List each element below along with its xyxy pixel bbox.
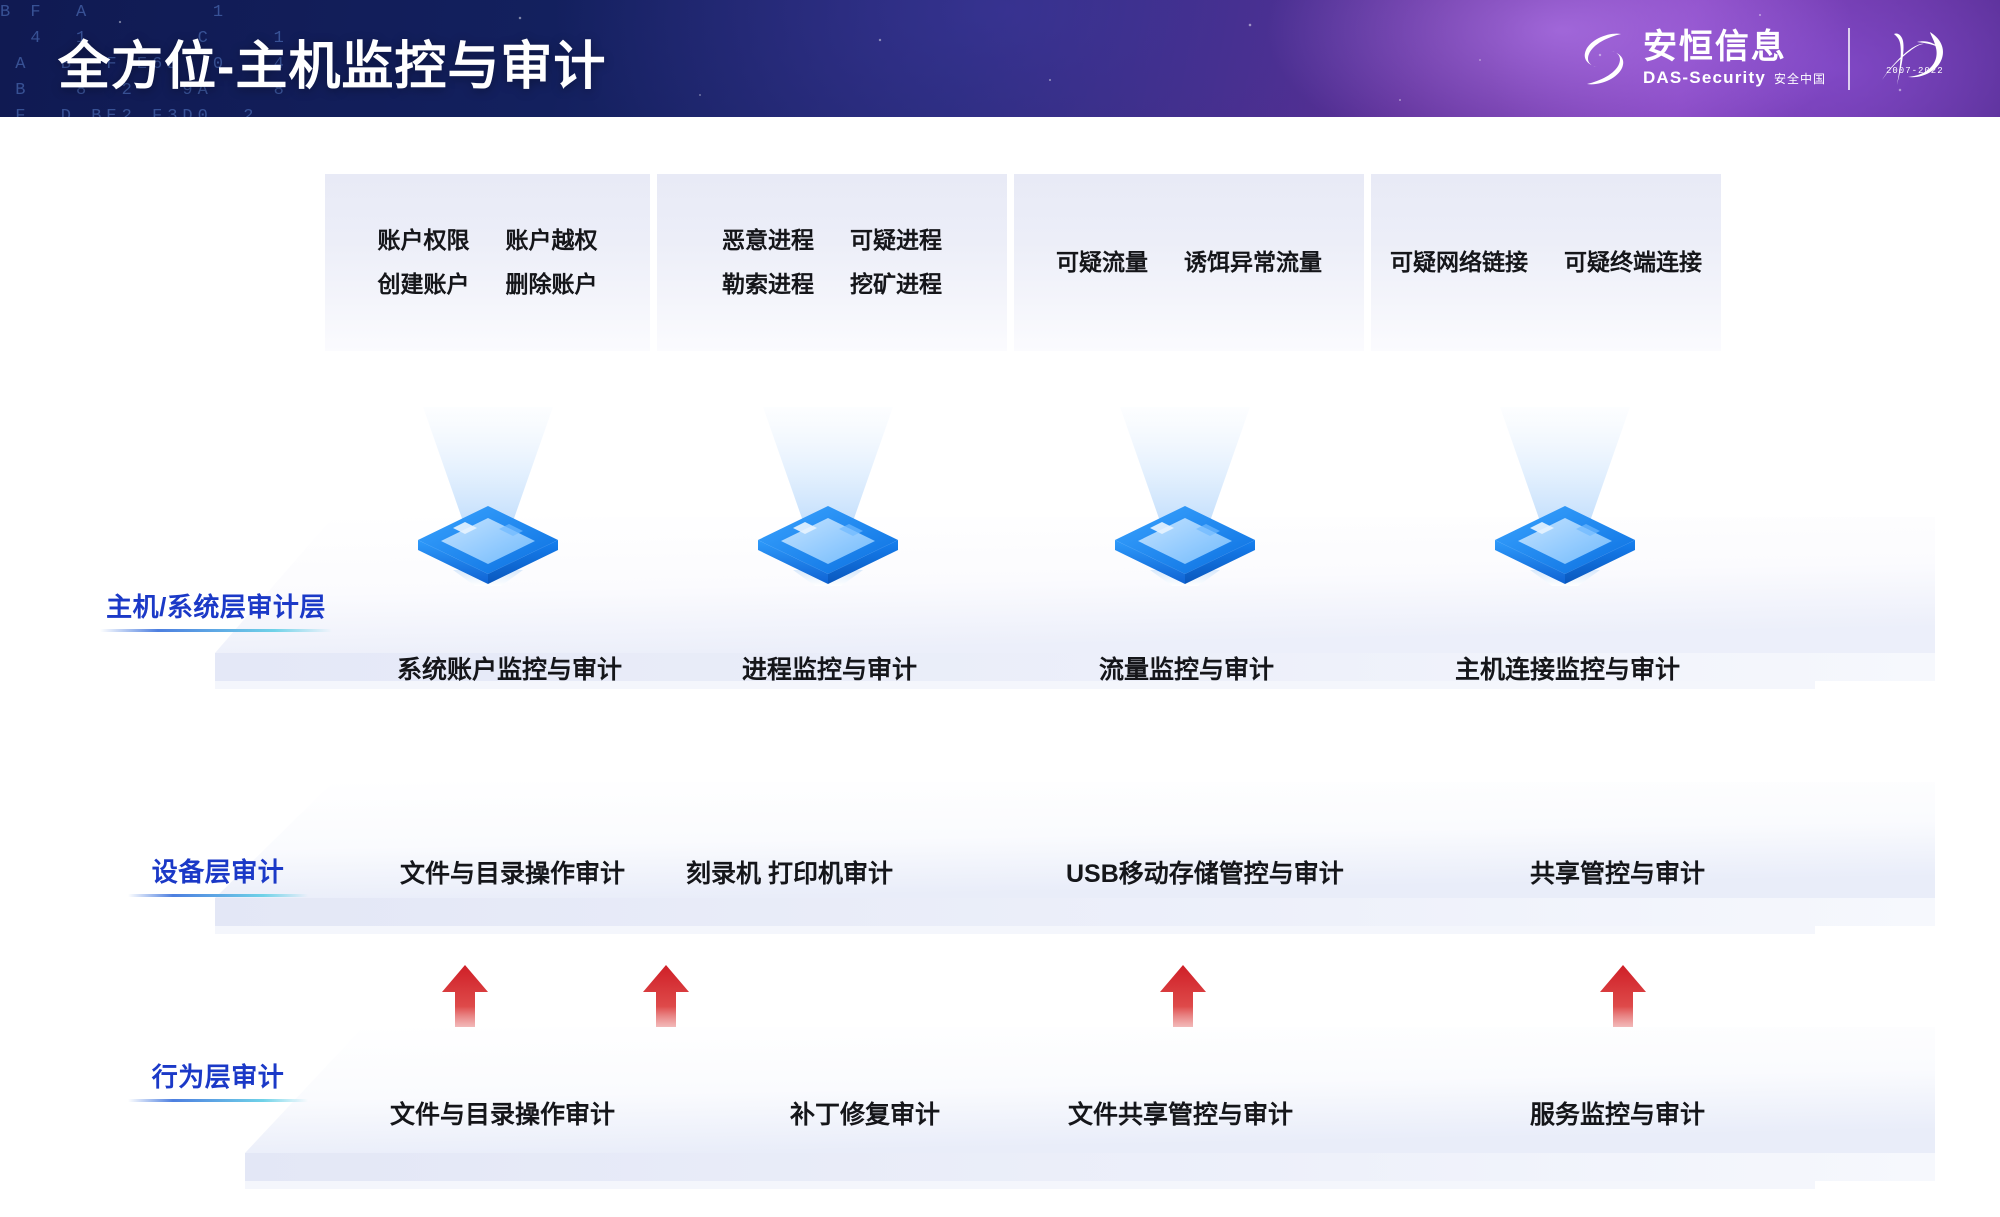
layer-3-item-2: 文件共享管控与审计: [1068, 1095, 1293, 1131]
feature-tag: 可疑网络链接: [1390, 241, 1528, 285]
swoosh-logo-icon: [1575, 30, 1631, 88]
layer-2-item-3: 共享管控与审计: [1530, 854, 1705, 890]
brand-logo: 安恒信息 DAS-Security 安全中国 2007-2022: [1575, 22, 1958, 96]
feature-card-account: 账户权限账户越权 创建账户删除账户: [325, 174, 650, 351]
layer-1-item-2: 流量监控与审计: [1099, 650, 1274, 686]
layer-2-item-1: 刻录机 打印机审计: [686, 854, 893, 890]
layer-3-item-3: 服务监控与审计: [1530, 1095, 1705, 1131]
brand-name-en: DAS-Security: [1643, 68, 1766, 88]
layer-1-tag-label: 主机/系统层审计层: [100, 587, 332, 624]
node-process: [718, 407, 938, 597]
node-connection: [1455, 407, 1675, 597]
layer-1-item-1: 进程监控与审计: [742, 650, 917, 686]
server-block-icon: [1490, 500, 1640, 591]
node-traffic: [1075, 407, 1295, 597]
feature-card-row: 账户权限账户越权 创建账户删除账户 恶意进程可疑进程 勒索进程挖矿进程 可疑流量…: [0, 117, 2000, 347]
layer-1-tag: 主机/系统层审计层: [100, 587, 332, 632]
feature-tag: 诱饵异常流量: [1184, 241, 1322, 285]
feature-tag: 可疑终端连接: [1564, 241, 1702, 285]
feature-tag: 可疑流量: [1056, 241, 1148, 285]
feature-tag: 勒索进程: [722, 263, 814, 307]
layer-3-tag: 行为层审计: [128, 1057, 308, 1102]
layer-1-tag-underline: [100, 629, 332, 632]
brand-slogan: 安全中国: [1774, 70, 1826, 87]
feature-tag: 删除账户: [506, 263, 598, 307]
feature-tag: 创建账户: [378, 263, 470, 307]
layer-3-item-1: 补丁修复审计: [790, 1095, 940, 1131]
anniversary-years: 2007-2022: [1886, 66, 1944, 76]
feature-tag: 账户权限: [378, 219, 470, 263]
das-security-logo: 安恒信息 DAS-Security 安全中国: [1575, 30, 1826, 89]
layer-2-tag: 设备层审计: [128, 852, 308, 897]
server-block-icon: [1110, 500, 1260, 591]
feature-tag: 可疑进程: [850, 219, 942, 263]
anniversary-15-icon: 2007-2022: [1872, 24, 1958, 94]
layer-2-tag-label: 设备层审计: [128, 852, 308, 889]
node-account: [378, 407, 598, 597]
feature-card-traffic: 可疑流量诱饵异常流量: [1014, 174, 1364, 351]
feature-tag: 挖矿进程: [850, 263, 942, 307]
feature-tag: 恶意进程: [722, 219, 814, 263]
logo-text: 安恒信息 DAS-Security 安全中国: [1643, 30, 1826, 89]
layer-3-tag-underline: [128, 1099, 308, 1102]
layer-2-item-2: USB移动存储管控与审计: [1066, 854, 1344, 890]
feature-card-process: 恶意进程可疑进程 勒索进程挖矿进程: [657, 174, 1007, 351]
brand-name-cn: 安恒信息: [1643, 30, 1826, 66]
server-block-icon: [413, 500, 563, 591]
server-block-icon: [753, 500, 903, 591]
diagram-canvas: 账户权限账户越权 创建账户删除账户 恶意进程可疑进程 勒索进程挖矿进程 可疑流量…: [0, 117, 2000, 1125]
logo-divider: [1848, 28, 1850, 90]
page-header: B F A 1 4 1 C 1 A B F E6E 0 4 B 8 2 9A 8…: [0, 0, 2000, 117]
layer-2-tag-underline: [128, 894, 308, 897]
feature-card-connection: 可疑网络链接可疑终端连接: [1371, 174, 1721, 351]
layer-3-tag-label: 行为层审计: [128, 1057, 308, 1094]
layer-2-item-0: 文件与目录操作审计: [400, 854, 625, 890]
feature-tag: 账户越权: [506, 219, 598, 263]
layer-3-item-0: 文件与目录操作审计: [390, 1095, 615, 1131]
layer-1-item-3: 主机连接监控与审计: [1455, 650, 1680, 686]
page-title: 全方位-主机监控与审计: [58, 24, 606, 99]
layer-1-item-0: 系统账户监控与审计: [397, 650, 622, 686]
